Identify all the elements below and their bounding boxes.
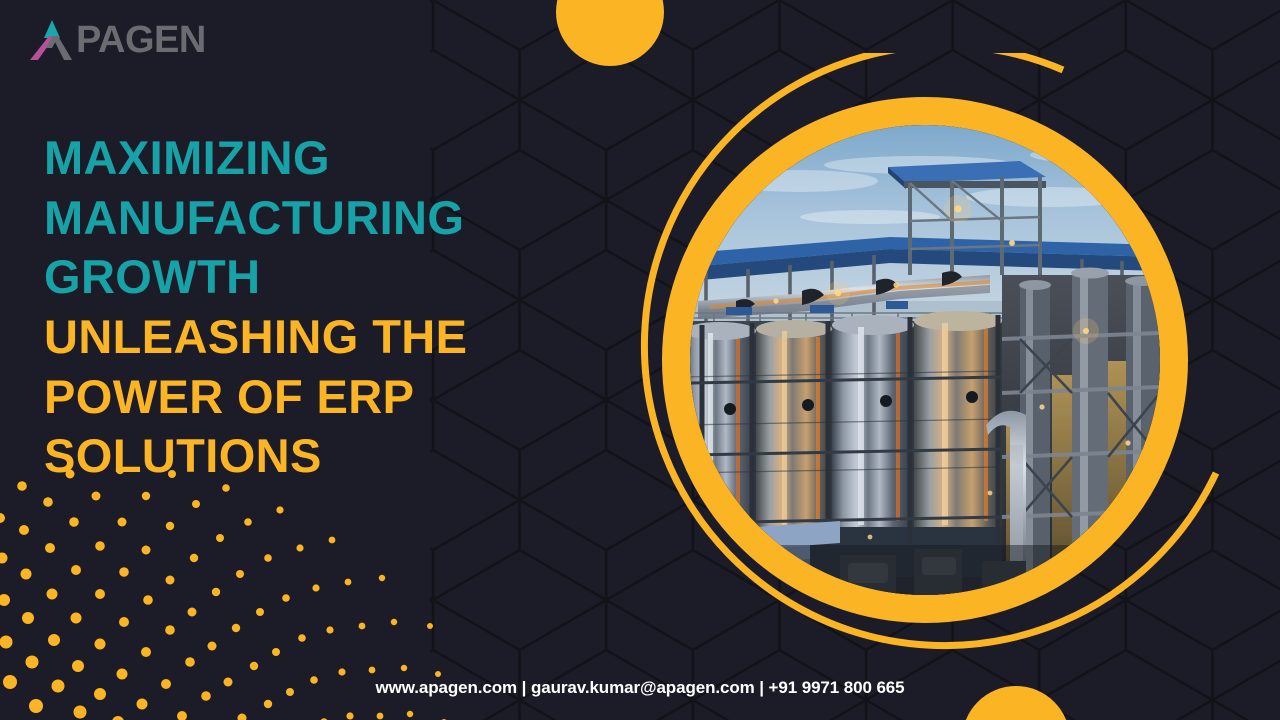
apagen-a-mark-icon [28, 16, 76, 64]
headline-line-6: SOLUTIONS [44, 426, 604, 486]
headline-line-1: MAXIMIZING [44, 128, 604, 188]
contact-line[interactable]: www.apagen.com | gaurav.kumar@apagen.com… [375, 678, 904, 697]
footer-bar: www.apagen.com | gaurav.kumar@apagen.com… [0, 678, 1280, 698]
headline-line-2: MANUFACTURING [44, 188, 604, 248]
headline-line-4: UNLEASHING THE [44, 307, 604, 367]
circular-image-frame [618, 53, 1232, 667]
industrial-plant-photo [690, 125, 1160, 595]
brand-logo[interactable]: PAGEN [28, 16, 206, 64]
brand-wordmark: PAGEN [76, 21, 206, 59]
headline-line-5: POWER OF ERP [44, 367, 604, 427]
headline-block: MAXIMIZING MANUFACTURING GROWTH UNLEASHI… [44, 128, 604, 486]
headline-line-3: GROWTH [44, 247, 604, 307]
banner-canvas: PAGEN MAXIMIZING MANUFACTURING GROWTH UN… [0, 0, 1280, 720]
